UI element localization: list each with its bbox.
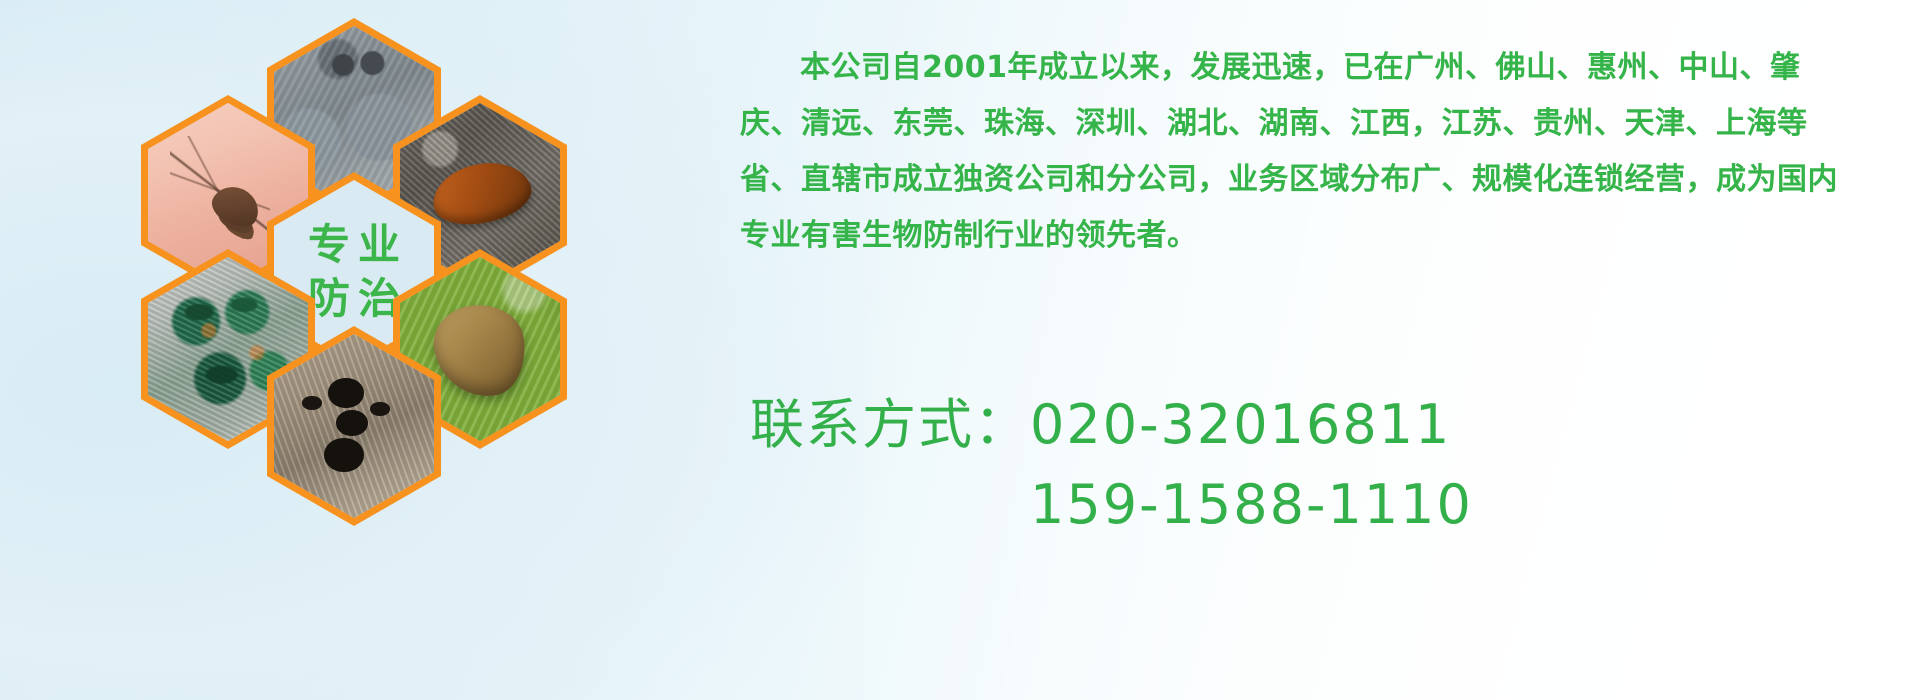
contact-block: 联系方式：020-32016811 159-1588-1110 [750, 385, 1870, 545]
contact-phone-primary[interactable]: 联系方式：020-32016811 [750, 385, 1870, 465]
pest-control-banner: 专业 防治 本公司自2001年成立以来，发展迅速，已在广州、佛山、惠州、中山、肇… [0, 0, 1920, 700]
company-intro-paragraph: 本公司自2001年成立以来，发展迅速，已在广州、佛山、惠州、中山、肇庆、清远、东… [740, 0, 1860, 264]
hex-photo-cluster: 专业 防治 [95, 0, 595, 580]
ant-photo [274, 334, 434, 518]
text-content: 本公司自2001年成立以来，发展迅速，已在广州、佛山、惠州、中山、肇庆、清远、东… [740, 0, 1900, 700]
center-label-line2: 防治 [300, 276, 408, 322]
center-label-line1: 专业 [300, 222, 408, 268]
contact-phone-secondary[interactable]: 159-1588-1110 [750, 465, 1870, 545]
ant-image [274, 334, 434, 518]
